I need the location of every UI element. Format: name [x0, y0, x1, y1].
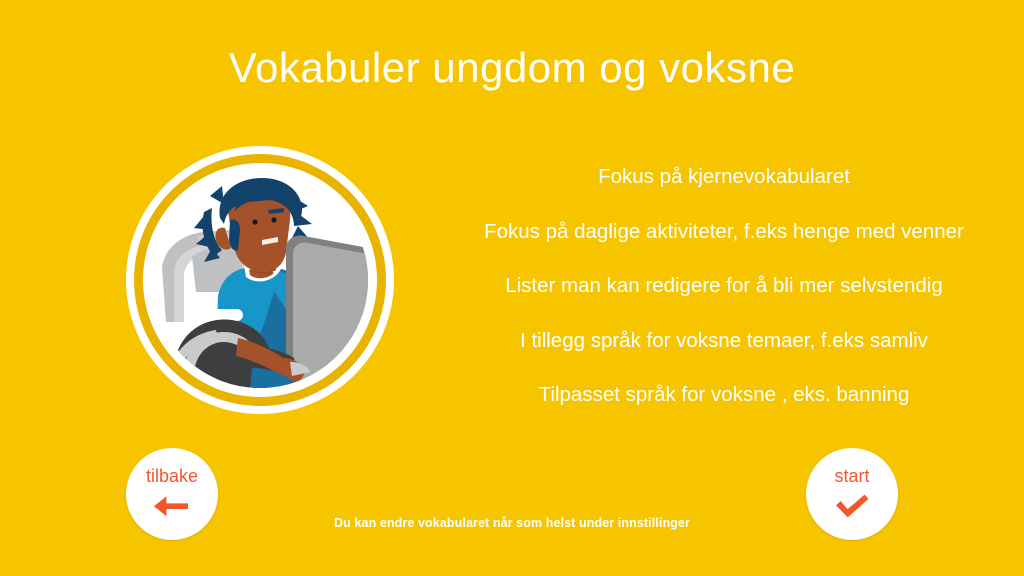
page-title: Vokabuler ungdom og voksne [0, 41, 1024, 95]
arrow-left-icon [152, 493, 192, 519]
back-button-label: tilbake [146, 467, 198, 486]
feature-item: Lister man kan redigere for å bli mer se… [424, 259, 1024, 314]
footer-note: Du kan endre vokabularet når som helst u… [0, 516, 1024, 530]
checkmark-icon [832, 493, 872, 519]
feature-item: I tillegg språk for voksne temaer, f.eks… [424, 314, 1024, 369]
feature-item: Tilpasset språk for voksne , eks. bannin… [424, 368, 1024, 423]
vocabulary-selection-screen: Vokabuler ungdom og voksne [0, 0, 1024, 576]
feature-item: Fokus på daglige aktiviteter, f.eks heng… [424, 205, 1024, 260]
illustration-image [152, 172, 368, 388]
feature-list: Fokus på kjernevokabularet Fokus på dagl… [424, 150, 1024, 423]
illustration-medallion [126, 146, 394, 414]
start-button-label: start [834, 467, 869, 486]
feature-item: Fokus på kjernevokabularet [424, 150, 1024, 205]
